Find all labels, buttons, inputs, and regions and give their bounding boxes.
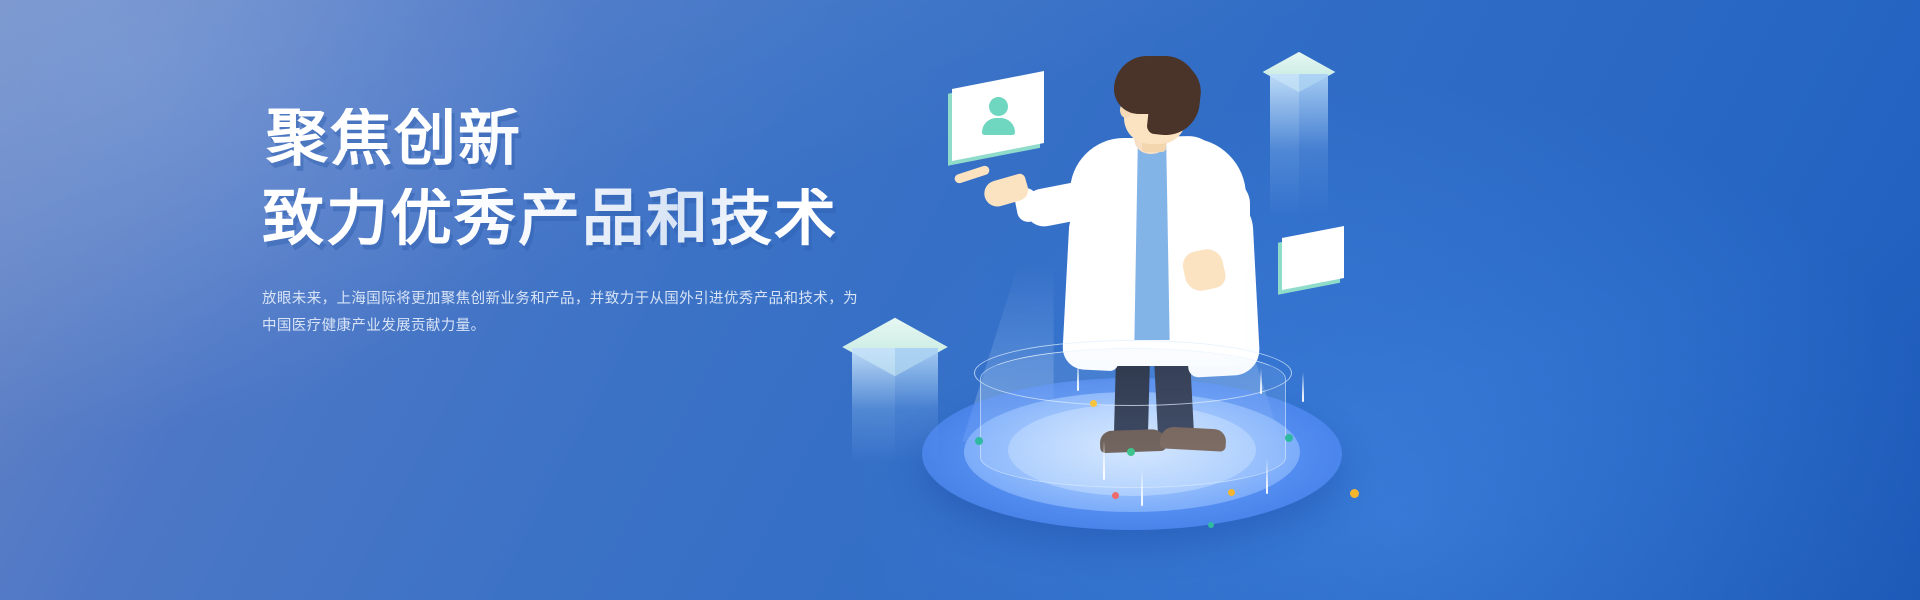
streak-3 <box>1103 440 1105 480</box>
banner-subtitle: 放眼未来，上海国际将更加聚焦创新业务和产品，并致力于从国外引进优秀产品和技术，为… <box>262 286 862 340</box>
dot-teal-1 <box>975 437 983 445</box>
doctor-character <box>1008 52 1308 472</box>
bar-left-face <box>852 348 895 460</box>
dot-green-1 <box>1127 448 1135 456</box>
dot-red-1 <box>1112 492 1119 499</box>
hair-sweep <box>1146 60 1203 139</box>
dot-yellow-2 <box>1228 489 1235 496</box>
avatar-head <box>989 97 1008 116</box>
hero-banner: 聚焦创新 致力优秀产品和技术 放眼未来，上海国际将更加聚焦创新业务和产品，并致力… <box>0 0 1920 600</box>
pointing-finger <box>953 165 990 185</box>
headline-line-1: 聚焦创新 <box>266 108 882 170</box>
headline-line-2: 致力优秀产品和技术 <box>262 188 882 250</box>
shoe-right <box>1159 426 1226 451</box>
dot-yellow-3 <box>1350 489 1359 498</box>
banner-illustration <box>830 0 1920 600</box>
banner-copy: 聚焦创新 致力优秀产品和技术 放眼未来，上海国际将更加聚焦创新业务和产品，并致力… <box>262 108 882 340</box>
streak-6 <box>1260 368 1262 394</box>
dot-teal-3 <box>1208 522 1214 528</box>
streak-1 <box>1077 357 1079 391</box>
streak-5 <box>1266 458 1268 494</box>
dot-yellow-1 <box>1090 400 1097 407</box>
coat-lapel-left <box>1092 140 1138 355</box>
dot-teal-2 <box>1285 434 1293 442</box>
streak-4 <box>1141 468 1143 506</box>
headline: 聚焦创新 致力优秀产品和技术 <box>262 108 882 250</box>
streak-2 <box>1302 372 1304 402</box>
